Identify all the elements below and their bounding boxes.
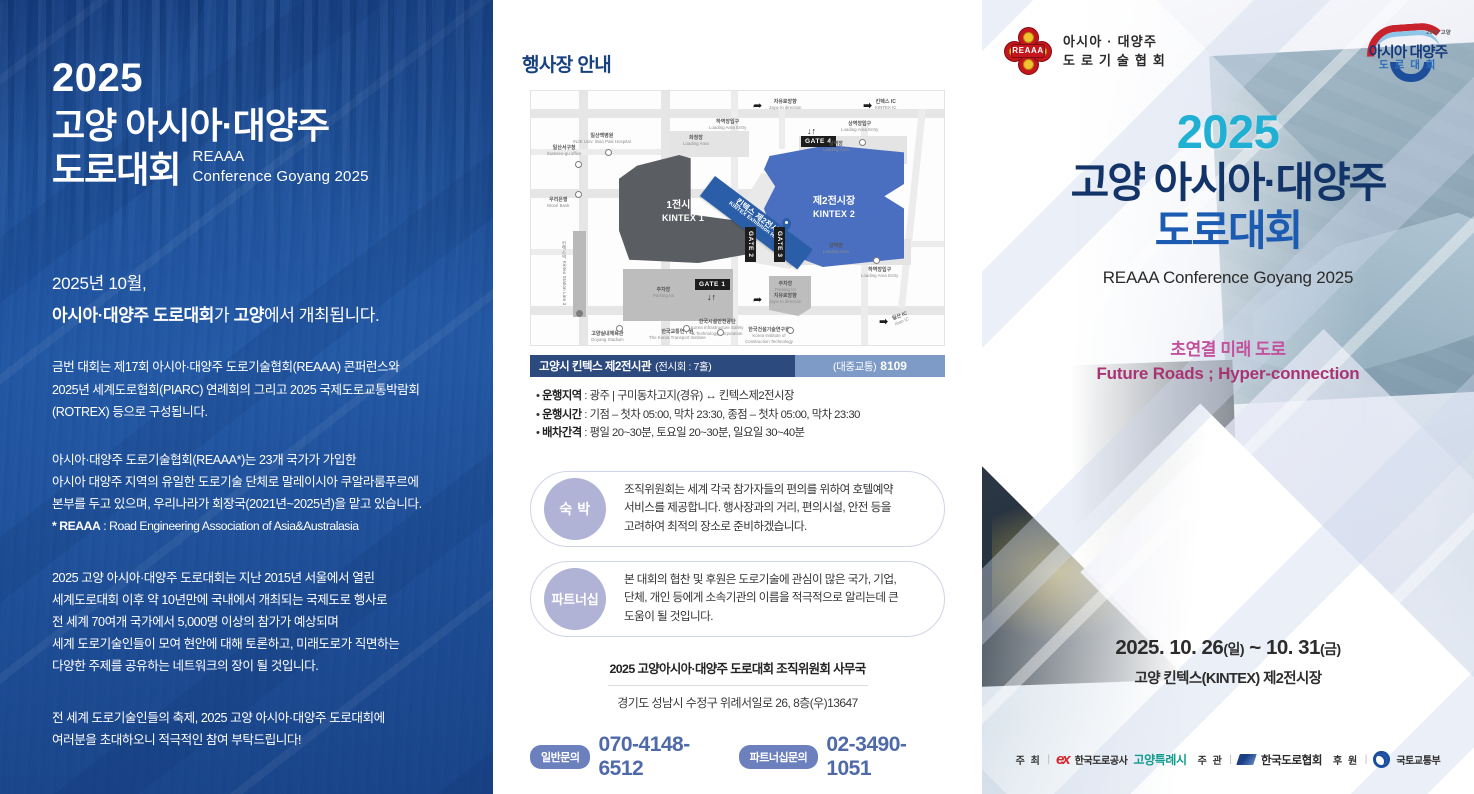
map-kict-en: Korea Institute of Construction Technolo…: [745, 333, 793, 344]
map-loading-area-1: [669, 131, 749, 157]
transit-venue-name: 고양시 킨텍스 제2전시관: [539, 358, 651, 374]
map-loadingentry3-en: Loading Area Entry: [861, 273, 898, 279]
sponsor-bar: 주 최 | ex 한국도로공사 고양특례시 주 관 | 한국도로협회 후 원 |…: [982, 751, 1474, 768]
bullet-label-region: 운행지역: [542, 390, 582, 402]
phone-partnership-tag: 파트너십문의: [739, 745, 819, 769]
map-arrow-gate3: ↓↑: [778, 237, 787, 246]
brochure-page: 2025 고양 아시아·대양주 도로대회 REAAA Conference Go…: [0, 0, 1474, 794]
map-arrow-gate1: ↓↑: [707, 293, 716, 302]
map-poi-jayuro-top: 자유로방향 Jayu-ro direction: [769, 99, 801, 111]
event-when-block: 2025. 10. 26(일) ~ 10. 31(금) 고양 킨텍스(KINTE…: [982, 636, 1474, 688]
map-arrow-gate4: ↓↑: [807, 127, 816, 136]
map-loading1-en: Loading Area: [683, 141, 709, 147]
emblem-line-2: 도 로 대 회: [1364, 57, 1452, 72]
map-arrow-kintex-ic: ➡: [863, 101, 872, 112]
sponsor-name-molit: 국토교통부: [1396, 752, 1440, 767]
road-association-icon: [1236, 754, 1257, 765]
top-logos: REAAA 아시아 · 대양주 도 로 기 술 협 회 2025 고양 아시아 …: [982, 0, 1474, 84]
map-poi-dot-6: [616, 325, 623, 332]
reaaa-wordmark: REAAA: [1011, 44, 1045, 58]
venue-guide-heading: 행사장 안내: [522, 50, 956, 77]
hero-title-line2: 도로대회: [982, 207, 1474, 255]
event-date-start-day: (일): [1223, 641, 1244, 657]
event-venue: 고양 킨텍스(KINTEX) 제2전시장: [982, 667, 1474, 688]
map-poi-hospital-en: INJE Univ. Ilsan Paik Hospital: [573, 139, 631, 145]
left-year: 2025: [52, 58, 451, 98]
left-paragraph-3: 2025 고양 아시아·대양주 도로대회는 지난 2015년 서울에서 열린 세…: [52, 567, 451, 677]
middle-panel: 행사장 안내 1전시장: [493, 0, 982, 794]
lead-line-1: 2025년 10월,: [52, 269, 451, 294]
transit-venue-sub: (전시회 : 7홀): [655, 359, 711, 374]
map-poi-dot-9: [787, 327, 794, 334]
map-subway-station-dot: [576, 310, 583, 317]
map-poi-dot-4: [859, 139, 866, 146]
slogan-block: 초연결 미래 도로 Future Roads ; Hyper-connectio…: [982, 335, 1474, 384]
map-poi-bank: 우리은행 Woori Bank: [547, 197, 570, 209]
map-poi-loading-3: 상역장 Loading Area: [823, 243, 849, 255]
phone-general-tag: 일반문의: [530, 745, 590, 769]
phone-general[interactable]: 일반문의 070-4148-6512: [530, 733, 729, 781]
map-poi-loading-entry-1: 하역장입구 Loading Area Entry: [709, 119, 746, 131]
map-parking-lot-1: [623, 269, 733, 321]
contact-phones: 일반문의 070-4148-6512 파트너십문의 02-3490-1051: [530, 733, 945, 781]
map-jayuro-top-en: Jayu-ro direction: [769, 105, 801, 111]
bullet-value-interval: : 평일 20~30분, 토요일 20~30분, 일요일 30~40분: [582, 427, 805, 439]
bullet-label-interval: 배차간격: [542, 427, 582, 439]
sponsor-sep-1: |: [1047, 754, 1050, 765]
map-poi-hospital: 일산백병원 INJE Univ. Ilsan Paik Hospital: [573, 133, 631, 145]
transit-bus-number: 8109: [880, 359, 907, 373]
transit-venue: 고양시 킨텍스 제2전시관 (전시회 : 7홀): [530, 355, 795, 377]
map-poi-parking-1: 주차장 Parking lot: [653, 287, 674, 299]
map-arrow-jayuro-bottom: ➦: [753, 295, 762, 306]
event-date-separator: ~: [1244, 636, 1266, 659]
sponsor-sep-3: |: [1365, 754, 1368, 765]
para2-note-rest: : Road Engineering Association of Asia&A…: [100, 519, 358, 533]
partnership-text: 본 대회의 협찬 및 후원은 도로기술에 관심이 많은 국가, 기업, 단체, …: [624, 571, 920, 627]
venue-map[interactable]: 1전시장 KINTEX 1 제2전시장 KINTEX 2 킨텍스 제2전시장 K…: [530, 90, 945, 346]
right-panel: REAAA 아시아 · 대양주 도 로 기 술 협 회 2025 고양 아시아 …: [982, 0, 1474, 794]
emblem-small-top: 2025 고양: [1426, 29, 1451, 36]
map-gate-1: GATE 1: [695, 279, 730, 290]
map-subway-line: [573, 231, 586, 317]
sponsor-group-organizer: 주 관 | 한국도로협회: [1198, 752, 1322, 768]
map-poi-stadium: 고양실내체육관 Goyang Stadium: [591, 331, 624, 343]
transit-bullet-interval: • 배차간격 : 평일 20~30분, 토요일 20~30분, 일요일 30~4…: [530, 424, 945, 443]
organizing-office: 2025 고양아시아·대양주 도로대회 조직위원회 사무국 경기도 성남시 수정…: [530, 659, 945, 711]
left-content: 2025 고양 아시아·대양주 도로대회 REAAA Conference Go…: [0, 0, 493, 751]
left-title-line1: 고양 아시아·대양주: [52, 105, 451, 147]
map-parking2-en: Parking lot: [775, 287, 796, 293]
reaaa-coin-bottom: [1023, 59, 1034, 70]
map-poi-dot-2: [575, 161, 582, 168]
map-loading3-en: Loading Area: [823, 249, 849, 255]
reaaa-emblem-icon: REAAA: [1004, 27, 1052, 75]
bullet-label-hours: 운행시간: [542, 409, 582, 421]
map-poi-dot-3: [575, 191, 582, 198]
office-address: 경기도 성남시 수정구 위례서일로 26, 8층(우)13647: [530, 694, 945, 711]
map-poi-loading-1: 화정장 Loading Area: [683, 135, 709, 147]
map-arrow-jayuro-top: ➦: [753, 101, 762, 112]
event-date-end-day: (금): [1320, 641, 1341, 657]
conference-emblem-icon: 2025 고양 아시아 대양주 도 로 대 회: [1360, 18, 1456, 84]
map-poi-parking-2: 주차장 Parking lot: [775, 281, 796, 293]
map-jayuro-bot-en: Jayu-ro direction: [769, 299, 801, 305]
info-card-accommodation: 숙 박 조직위원회는 세계 각국 참가자들의 편의를 위하여 호텔예약 서비스를…: [530, 471, 945, 547]
hero-year: 2025: [982, 108, 1474, 155]
hero-title-block: 2025 고양 아시아·대양주 도로대회 REAAA Conference Go…: [982, 84, 1474, 288]
left-paragraph-2: 아시아·대양주 도로기술협회(REAAA*)는 23개 국가가 가입한 아시아 …: [52, 449, 451, 537]
map-poi-kintex-ic: 킨텍스 IC KINTEX IC: [875, 99, 896, 111]
event-date-end: 10. 31: [1266, 636, 1320, 659]
bullet-value-region: : 광주 | 구미동차고지(경유) ↔ 킨텍스제2전시장: [582, 390, 794, 402]
hero-title-english: REAAA Conference Goyang 2025: [982, 268, 1474, 288]
lead-bold-org: 아시아·대양주 도로대회: [52, 306, 214, 325]
lead-mid: 가: [214, 306, 234, 325]
hall2-label-ko: 제2전시장: [764, 196, 904, 209]
map-poi-bank-en: Woori Bank: [547, 203, 570, 209]
map-arrow-gate2: ↓↑: [749, 237, 758, 246]
map-stadium-en: Goyang Stadium: [591, 337, 624, 343]
transit-bullets: • 운행지역 : 광주 | 구미동차고지(경유) ↔ 킨텍스제2전시장 • 운행…: [530, 387, 945, 443]
lead-line-2: 아시아·대양주 도로대회가 고양에서 개최됩니다.: [52, 301, 451, 326]
map-poi-jayuro-bottom: 지유로방향 Jayu-ro direction: [769, 293, 801, 305]
map-poi-district-office: 일산서구청 Ilsanseo-gu office: [547, 145, 581, 157]
map-road-h5: [531, 249, 579, 255]
sponsor-role-supporter: 후 원: [1333, 752, 1359, 767]
info-cards: 숙 박 조직위원회는 세계 각국 참가자들의 편의를 위하여 호텔예약 서비스를…: [530, 471, 945, 637]
left-title-english: REAAA Conference Goyang 2025: [192, 147, 368, 191]
transit-caption: (대중교통): [833, 359, 876, 374]
sponsor-role-organizer: 주 관: [1198, 752, 1224, 767]
ex-highway-icon: ex: [1056, 752, 1069, 767]
left-paragraph-4: 전 세계 도로기술인들의 축제, 2025 고양 아시아·대양주 도로대회에 여…: [52, 707, 451, 751]
left-paragraph-1: 금번 대회는 제17회 아시아·대양주 도로기술협회(REAAA) 콘퍼런스와 …: [52, 356, 451, 422]
sponsor-name-expressway: 한국도로공사: [1075, 752, 1128, 767]
sponsor-group-supporter: 후 원 | 국토교통부: [1333, 751, 1440, 768]
hero-title-line1: 고양 아시아·대양주: [982, 159, 1474, 207]
para2-text: 아시아·대양주 도로기술협회(REAAA*)는 23개 국가가 가입한 아시아 …: [52, 453, 422, 511]
transit-bullet-hours: • 운행시간 : 기점 – 첫차 05:00, 막차 23:30, 종점 – 첫…: [530, 406, 945, 425]
map-poi-dot-5: [873, 257, 880, 264]
hall2-label: 제2전시장 KINTEX 2: [764, 196, 904, 220]
phone-partnership-number[interactable]: 02-3490-1051: [826, 733, 945, 781]
map-poi-construction-tech: 한국건설기술연구원 Korea Institute of Constructio…: [745, 327, 793, 344]
map-loading2-en: Loading Area: [823, 147, 849, 153]
event-date-start: 2025. 10. 26: [1115, 636, 1223, 659]
partnership-badge: 파트너십: [544, 568, 606, 630]
map-poi-office-en: Ilsanseo-gu office: [547, 151, 581, 157]
left-panel: 2025 고양 아시아·대양주 도로대회 REAAA Conference Go…: [0, 0, 493, 794]
slogan-korean: 초연결 미래 도로: [982, 335, 1474, 360]
office-divider: [608, 685, 868, 686]
para2-note-label: * REAAA: [52, 519, 100, 533]
lead-bold-city: 고양: [234, 306, 264, 325]
reaaa-coin-top: [1023, 32, 1034, 43]
transit-bus: (대중교통) 8109: [795, 355, 945, 377]
map-poi-loading-2: 상역장 Loading Area: [823, 141, 849, 153]
molit-taegeuk-icon: [1373, 751, 1390, 768]
reaaa-association-logo: REAAA 아시아 · 대양주 도 로 기 술 협 회: [1004, 27, 1166, 75]
bullet-value-hours: : 기점 – 첫차 05:00, 막차 23:30, 종점 – 첫차 05:00…: [582, 409, 860, 421]
map-loadingentry1-en: Loading Area Entry: [709, 125, 746, 131]
phone-partnership[interactable]: 파트너십문의 02-3490-1051: [739, 733, 945, 781]
lead-post: 에서 개최됩니다.: [264, 306, 379, 325]
left-title-line2: 도로대회: [52, 149, 180, 191]
map-subway-label: 킨텍스역 Kintex Station Line 3: [561, 241, 567, 305]
accommodation-badge: 숙 박: [544, 478, 606, 540]
map-road-v6: [779, 109, 785, 149]
map-loadingentry2-en: Loading Area Entry: [841, 127, 878, 133]
right-content: REAAA 아시아 · 대양주 도 로 기 술 협 회 2025 고양 아시아 …: [982, 0, 1474, 794]
transit-bullet-region: • 운행지역 : 광주 | 구미동차고지(경유) ↔ 킨텍스제2전시장: [530, 387, 945, 406]
map-poi-dot-7: [683, 325, 690, 332]
slogan-english: Future Roads ; Hyper-connection: [982, 364, 1474, 384]
reaaa-logo-text: 아시아 · 대양주 도 로 기 술 협 회: [1063, 32, 1166, 71]
event-dates: 2025. 10. 26(일) ~ 10. 31(금): [982, 636, 1474, 660]
map-poi-dot-8: [717, 329, 724, 336]
map-poi-loading-entry-2: 상역장입구 Loading Area Entry: [841, 121, 878, 133]
para2-note: * REAAA : Road Engineering Association o…: [52, 519, 359, 533]
office-name: 2025 고양아시아·대양주 도로대회 조직위원회 사무국: [530, 659, 945, 677]
map-arrow-ilsan-ic: ➡: [879, 317, 888, 328]
map-kintexic-en: KINTEX IC: [875, 105, 896, 111]
map-parking1-en: Parking lot: [653, 293, 674, 299]
accommodation-text: 조직위원회는 세계 각국 참가자들의 편의를 위하여 호텔예약 서비스를 제공합…: [624, 481, 915, 537]
phone-general-number[interactable]: 070-4148-6512: [598, 733, 728, 781]
info-card-partnership: 파트너십 본 대회의 협찬 및 후원은 도로기술에 관심이 많은 국가, 기업,…: [530, 561, 945, 637]
sponsor-sep-2: |: [1229, 754, 1232, 765]
map-poi-dot-1: [605, 149, 612, 156]
left-title-row: 도로대회 REAAA Conference Goyang 2025: [52, 147, 451, 191]
map-poi-loading-entry-3: 하역장입구 Loading Area Entry: [861, 267, 898, 279]
sponsor-group-host: 주 최 | ex 한국도로공사 고양특례시: [1016, 751, 1187, 768]
left-lead: 2025년 10월, 아시아·대양주 도로대회가 고양에서 개최됩니다.: [52, 269, 451, 326]
sponsor-role-host: 주 최: [1016, 752, 1042, 767]
sponsor-name-goyang: 고양특례시: [1133, 751, 1186, 768]
transit-bar: 고양시 킨텍스 제2전시관 (전시회 : 7홀) (대중교통) 8109: [530, 355, 945, 377]
map-road-h3: [531, 306, 945, 315]
sponsor-name-road-association: 한국도로협회: [1261, 752, 1322, 768]
